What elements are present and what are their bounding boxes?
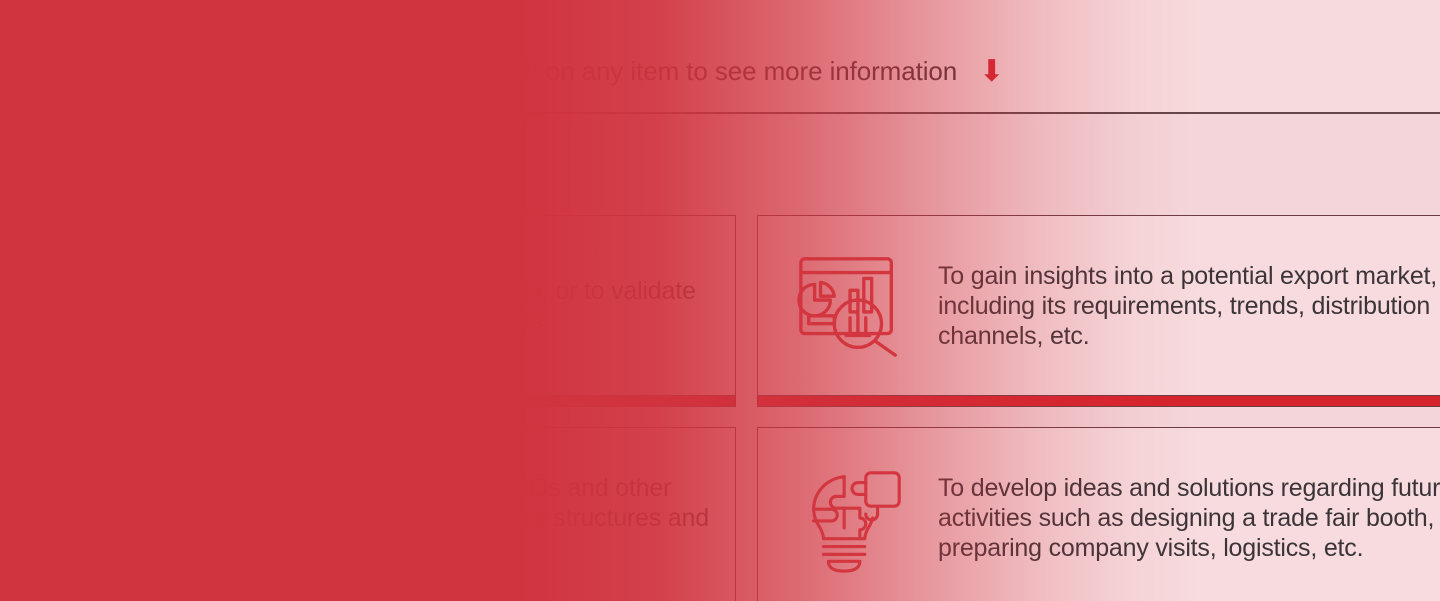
info-card-export-market-insights[interactable]: To gain insights into a potential export…: [757, 215, 1440, 407]
arrow-down-right-icon: ⬇: [979, 57, 1004, 87]
content-area: BSO staff: [0, 114, 1440, 601]
hint-banner: ⬇ Click on any item to see more informat…: [0, 56, 1440, 87]
hamburger-menu-icon[interactable]: [42, 0, 102, 20]
info-card-text: To network, meeting (local) BSOs and oth…: [196, 473, 717, 563]
top-navigation-bar: ⬇ Click on any item to see more informat…: [0, 0, 1440, 113]
info-card-networking[interactable]: To network, meeting (local) BSOs and oth…: [15, 427, 736, 601]
card-accent-bar: [758, 395, 1440, 407]
hamburger-bar-3: [42, 12, 96, 17]
card-grid: To deepen their own knowledge, or to val…: [15, 215, 1440, 601]
info-card-deepen-knowledge[interactable]: To deepen their own knowledge, or to val…: [15, 215, 736, 407]
chart-magnifier-icon: [788, 247, 916, 365]
page-root: ⬇ Click on any item to see more informat…: [0, 0, 1440, 601]
arrow-down-left-icon: ⬇: [436, 57, 461, 87]
hint-text: Click on any item to see more informatio…: [483, 56, 957, 87]
page-title: BSO staff: [10, 130, 153, 169]
puzzle-lightbulb-icon: [788, 459, 916, 577]
hamburger-bar-2: [42, 0, 80, 4]
info-card-text: To gain insights into a potential export…: [938, 261, 1440, 351]
info-card-text: To develop ideas and solutions regarding…: [938, 473, 1440, 563]
info-card-text: To deepen their own knowledge, or to val…: [196, 276, 717, 336]
network-people-icon: [46, 459, 174, 577]
lightbulb-book-icon: [46, 247, 174, 365]
info-card-ideas-solutions[interactable]: To develop ideas and solutions regarding…: [757, 427, 1440, 601]
card-accent-bar: [16, 395, 735, 407]
